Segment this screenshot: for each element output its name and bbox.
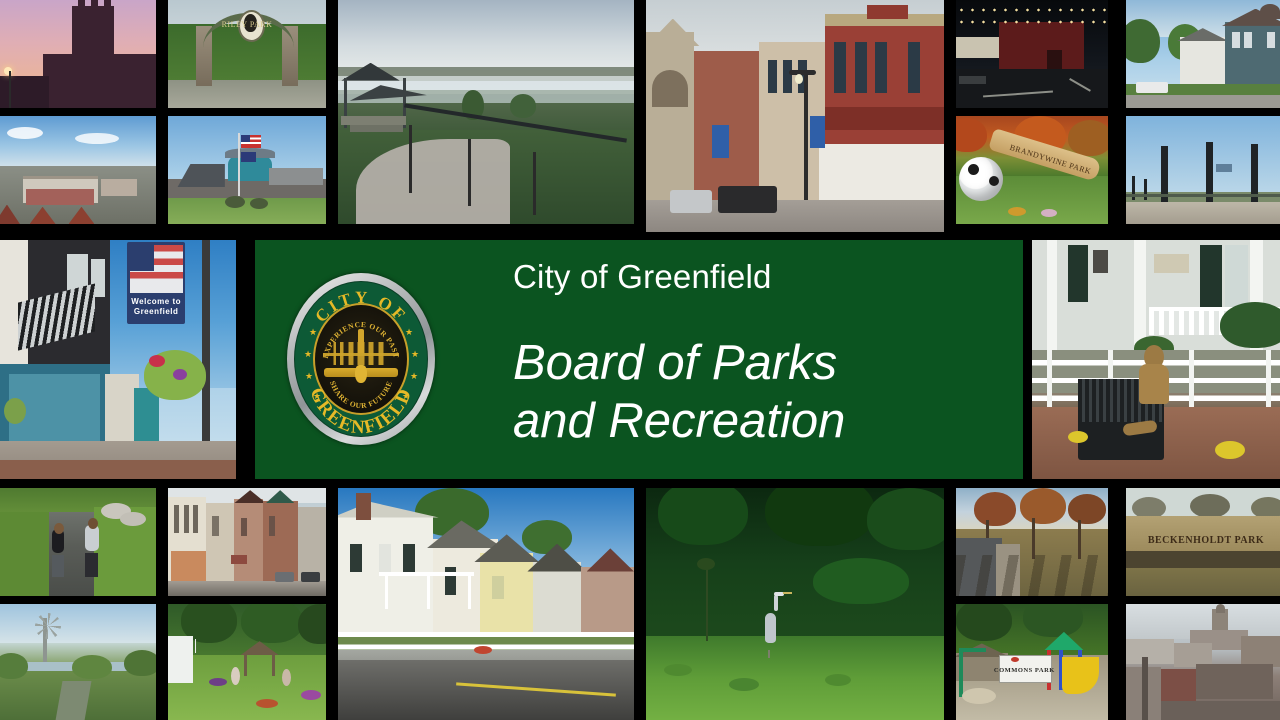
photo-aerial-downtown bbox=[0, 116, 156, 224]
svg-text:CITY OF: CITY OF bbox=[311, 288, 411, 326]
photo-great-blue-heron bbox=[646, 488, 944, 720]
photo-beckenholdt-park-sign: BECKENHOLDT PARK bbox=[1126, 488, 1280, 596]
page-title-line-1: Board of Parks bbox=[513, 336, 837, 390]
photo-riley-statue-bench bbox=[1032, 240, 1280, 479]
photo-commons-park-playground: COMMONS PARK bbox=[956, 604, 1108, 720]
photo-aerial-downtown-bw bbox=[1126, 604, 1280, 720]
photo-collage-title-slide: RILEY PARK bbox=[0, 0, 1280, 720]
photo-riley-park-entrance: RILEY PARK bbox=[168, 0, 326, 108]
photo-civic-center-flags bbox=[168, 116, 326, 224]
svg-text:SHARE OUR FUTURE: SHARE OUR FUTURE bbox=[328, 380, 394, 411]
organization-label: City of Greenfield bbox=[513, 256, 1013, 298]
photo-autumn-trail-trees bbox=[956, 488, 1108, 596]
svg-text:EXPERIENCE OUR PAST: EXPERIENCE OUR PAST bbox=[321, 320, 401, 359]
photo-sports-field-netting bbox=[1126, 116, 1280, 224]
riley-park-sign-text: RILEY PARK bbox=[200, 17, 295, 31]
seal-inner-top-label: EXPERIENCE OUR PAST bbox=[321, 320, 401, 359]
photo-church-at-dusk bbox=[0, 0, 156, 108]
page-title-line-2: and Recreation bbox=[513, 392, 1013, 450]
seal-arc-text: CITY OF GREENFIELD EXPERIENCE OUR PAST S… bbox=[287, 273, 435, 445]
commons-park-sign-text: COMMONS PARK bbox=[999, 664, 1051, 676]
photo-historic-houses-street bbox=[1126, 0, 1280, 108]
seal-arc-bottom-label: GREENFIELD bbox=[305, 385, 416, 439]
photo-white-house-row bbox=[338, 488, 634, 720]
photo-windmill-wetland bbox=[0, 604, 156, 720]
seal-inner-bottom-label: SHARE OUR FUTURE bbox=[328, 380, 394, 411]
banner-text-block: City of Greenfield Board of Parks and Re… bbox=[513, 256, 1013, 450]
photo-lake-pavilion-mist bbox=[338, 0, 634, 224]
photo-welcome-banner-street: Welcome to Greenfield bbox=[0, 240, 236, 479]
title-banner: ★ ★ ★ ★ ★ ★ ★ ★ bbox=[255, 240, 1023, 479]
photo-historic-main-street bbox=[168, 488, 326, 596]
svg-text:GREENFIELD: GREENFIELD bbox=[305, 385, 416, 439]
beckenholdt-park-sign-text: BECKENHOLDT PARK bbox=[1129, 531, 1280, 549]
photo-downtown-brick-corner bbox=[646, 0, 944, 232]
welcome-to-greenfield-banner-text: Welcome to Greenfield bbox=[127, 297, 185, 317]
photo-brandywine-park-sign: BRANDYWINE PARK bbox=[956, 116, 1108, 224]
city-seal: ★ ★ ★ ★ ★ ★ ★ ★ bbox=[287, 273, 435, 445]
page-title: Board of Parks and Recreation bbox=[513, 334, 1013, 450]
seal-arc-top-label: CITY OF bbox=[311, 288, 411, 326]
photo-garden-gazebo bbox=[168, 604, 326, 720]
photo-trail-cyclists bbox=[0, 488, 156, 596]
photo-drive-in-theater-night bbox=[956, 0, 1108, 108]
